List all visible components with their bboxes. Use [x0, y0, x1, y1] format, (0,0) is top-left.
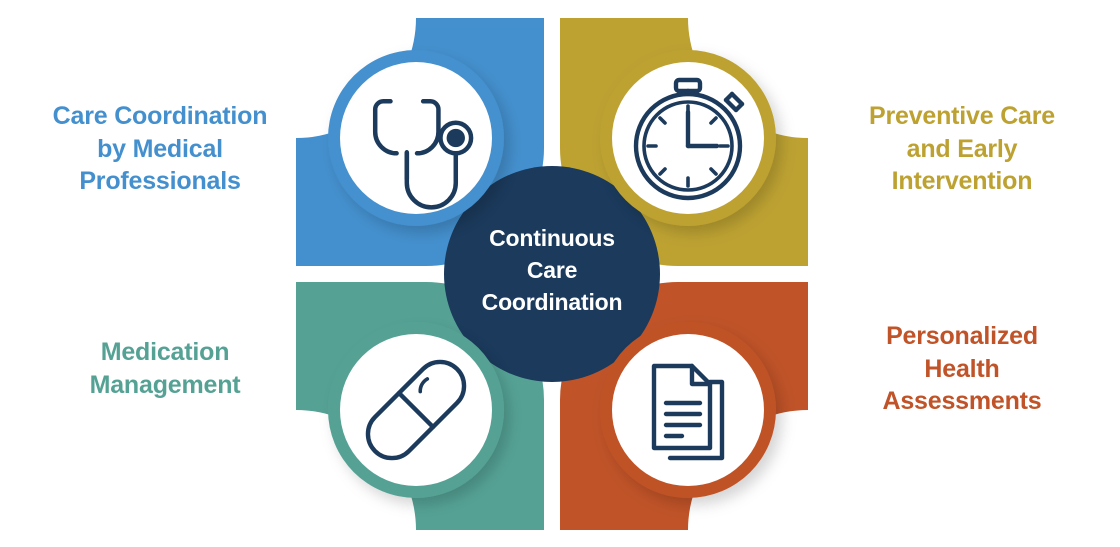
quadrant-label-preventive-care: Preventive Care and Early Intervention — [812, 100, 1112, 198]
quadrant-label-medication-management: Medication Management — [30, 336, 300, 401]
center-hub-line-1: Continuous — [489, 225, 615, 251]
quadrant-label-personalized-health-assessments: Personalized Health Assessments — [812, 320, 1112, 418]
icon-badge-medication-management[interactable] — [328, 322, 504, 498]
quadrant-label-care-coordination: Care Coordination by Medical Professiona… — [10, 100, 310, 198]
icon-badge-preventive-care[interactable] — [600, 50, 776, 226]
icon-badge-personalized-health-assessments[interactable] — [600, 322, 776, 498]
icon-badge-face-orange — [612, 334, 764, 486]
infographic-canvas: Care Coordination by Medical Professiona… — [0, 0, 1120, 547]
icon-badge-care-coordination[interactable] — [328, 50, 504, 226]
center-hub-line-3: Coordination — [482, 289, 623, 315]
care-coordination-wheel: Continuous Care Coordination — [292, 14, 812, 534]
center-hub-line-2: Care — [527, 257, 577, 283]
stethoscope-bell-center — [447, 129, 465, 147]
